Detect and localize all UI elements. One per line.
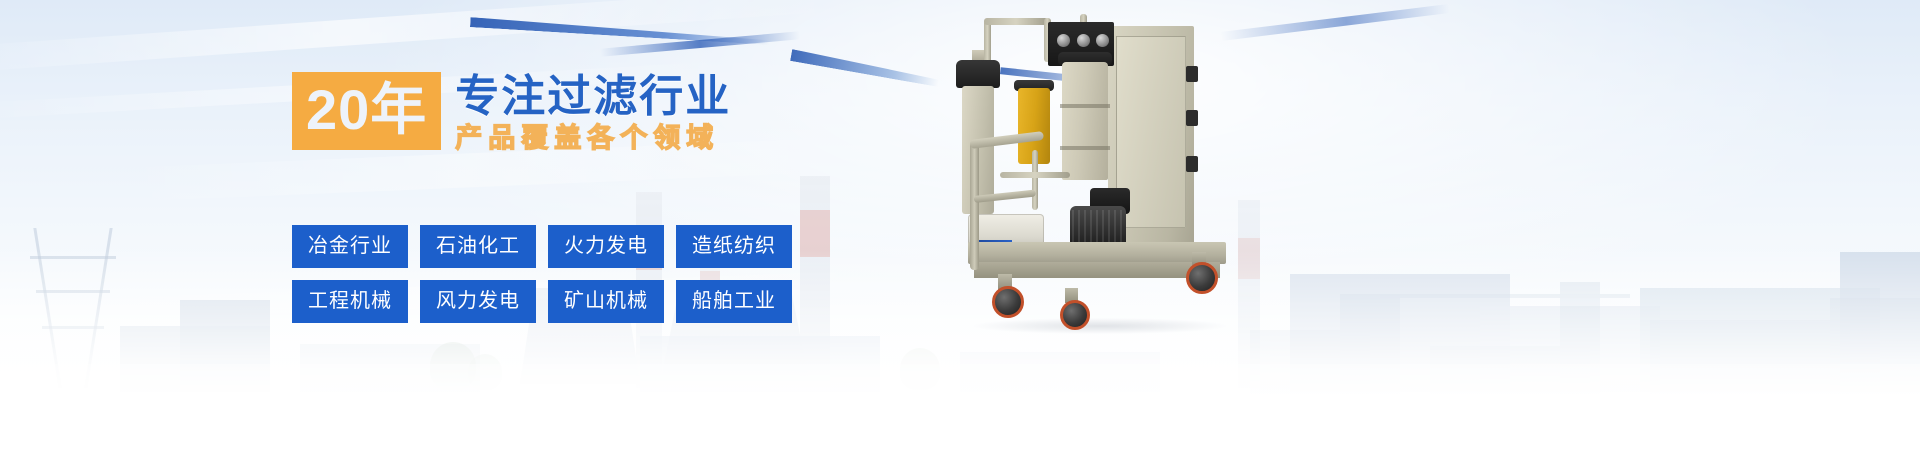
page-subtitle: 产品覆盖各个领域 xyxy=(455,124,731,154)
housing-band xyxy=(1060,104,1110,108)
pipe-segment xyxy=(984,18,1048,25)
cabinet-latch xyxy=(1186,156,1198,172)
caster-wheel xyxy=(1186,262,1218,294)
industry-tag-construction-machinery[interactable]: 工程机械 xyxy=(292,280,408,323)
caster-wheel xyxy=(992,286,1024,318)
filter-housing-cap xyxy=(956,60,1000,88)
caster-wheel xyxy=(1060,300,1090,330)
industry-tag-metallurgy[interactable]: 冶金行业 xyxy=(292,225,408,268)
cart-handle-post xyxy=(970,142,979,270)
industry-tag-list: 冶金行业 石油化工 火力发电 造纸纺织 工程机械 风力发电 矿山机械 船舶工业 xyxy=(292,225,912,335)
panel-knob-icon xyxy=(1077,34,1090,47)
pipe-segment xyxy=(1032,150,1038,210)
cabinet-latch xyxy=(1186,110,1198,126)
filter-housing-large xyxy=(1062,62,1108,180)
product-shadow xyxy=(974,318,1226,334)
industry-tag-petrochemical[interactable]: 石油化工 xyxy=(420,225,536,268)
industry-tag-thermal-power[interactable]: 火力发电 xyxy=(548,225,664,268)
industry-tag-paper-textile[interactable]: 造纸纺织 xyxy=(676,225,792,268)
panel-knob-icon xyxy=(1096,34,1109,47)
years-badge: 20年 xyxy=(292,72,441,150)
page-title: 专注过滤行业 xyxy=(455,74,731,120)
housing-band xyxy=(1060,146,1110,150)
pipe-segment xyxy=(1000,172,1070,178)
headline-row: 20年 专注过滤行业 产品覆盖各个领域 xyxy=(292,72,912,154)
promo-banner: 20年 专注过滤行业 产品覆盖各个领域 冶金行业 石油化工 火力发电 造纸纺织 … xyxy=(0,0,1920,450)
cart-deck xyxy=(968,242,1226,264)
industry-tag-wind-power[interactable]: 风力发电 xyxy=(420,280,536,323)
panel-knob-icon xyxy=(1057,34,1070,47)
industry-tag-shipbuilding[interactable]: 船舶工业 xyxy=(676,280,792,323)
industry-tag-row: 冶金行业 石油化工 火力发电 造纸纺织 xyxy=(292,225,912,268)
headline-block: 20年 专注过滤行业 产品覆盖各个领域 xyxy=(292,72,912,154)
headline-column: 专注过滤行业 产品覆盖各个领域 xyxy=(455,72,731,154)
motor-cooling-fins xyxy=(1072,210,1124,244)
product-image-oil-filter-cart xyxy=(940,0,1270,350)
cabinet-latch xyxy=(1186,66,1198,82)
industry-tag-mining-machinery[interactable]: 矿山机械 xyxy=(548,280,664,323)
industry-tag-row: 工程机械 风力发电 矿山机械 船舶工业 xyxy=(292,280,912,323)
